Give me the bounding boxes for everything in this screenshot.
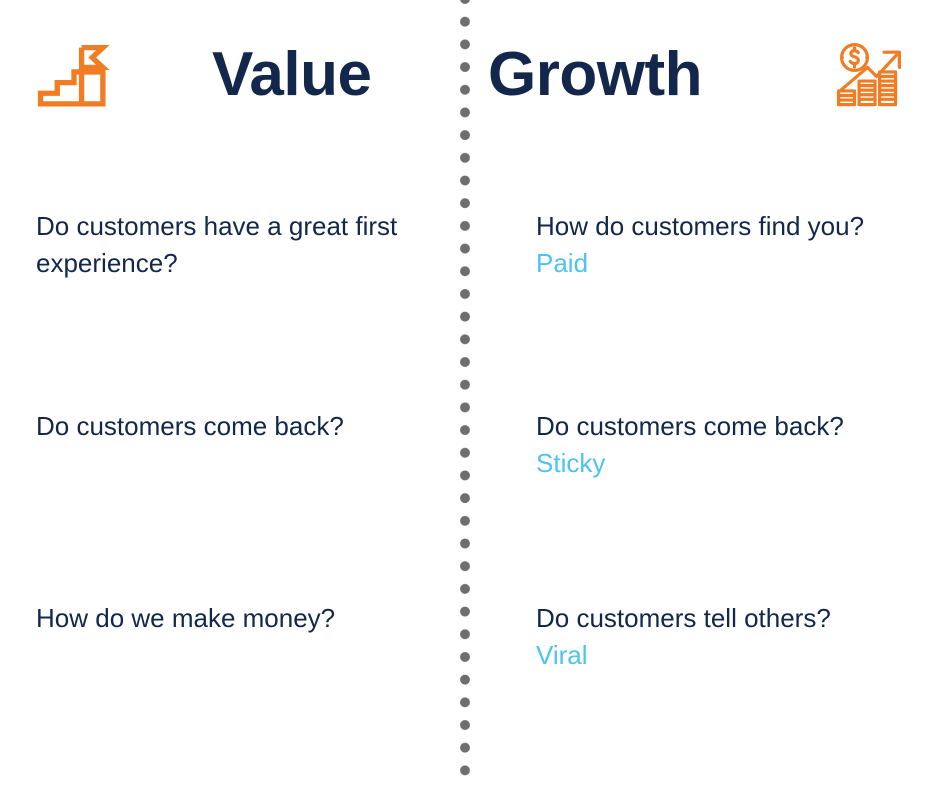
question-text: Do customers tell others? <box>536 600 926 637</box>
comparison-row: Do customers come back? Do customers com… <box>0 408 940 600</box>
comparison-row: Do customers have a great first experien… <box>0 208 940 400</box>
column-header-growth: Growth <box>470 0 940 150</box>
comparison-rows: Do customers have a great first experien… <box>0 150 940 788</box>
comparison-row: How do we make money? Do customers tell … <box>0 600 940 792</box>
slide-canvas: Value Growth <box>0 0 940 788</box>
question-text: Do customers come back? <box>536 408 926 445</box>
growth-cell: Do customers come back? Sticky <box>536 408 926 482</box>
value-cell: Do customers have a great first experien… <box>36 208 436 282</box>
question-text: Do customers have a great first experien… <box>36 208 436 282</box>
column-header-value: Value <box>0 0 460 150</box>
column-title: Growth <box>488 44 702 106</box>
growth-tag-label: Sticky <box>536 445 926 482</box>
header-band: Value Growth <box>0 0 940 150</box>
growth-tag-label: Paid <box>536 245 926 282</box>
growth-tag-label: Viral <box>536 637 926 674</box>
column-title: Value <box>212 44 372 106</box>
question-text: How do we make money? <box>36 600 436 637</box>
value-cell: How do we make money? <box>36 600 436 637</box>
growth-cell: How do customers find you? Paid <box>536 208 926 282</box>
growth-cell: Do customers tell others? Viral <box>536 600 926 674</box>
growth-chart-money-icon <box>834 37 910 113</box>
value-cell: Do customers come back? <box>36 408 436 445</box>
question-text: How do customers find you? <box>536 208 926 245</box>
question-text: Do customers come back? <box>36 408 436 445</box>
stairs-flag-icon <box>36 37 112 113</box>
